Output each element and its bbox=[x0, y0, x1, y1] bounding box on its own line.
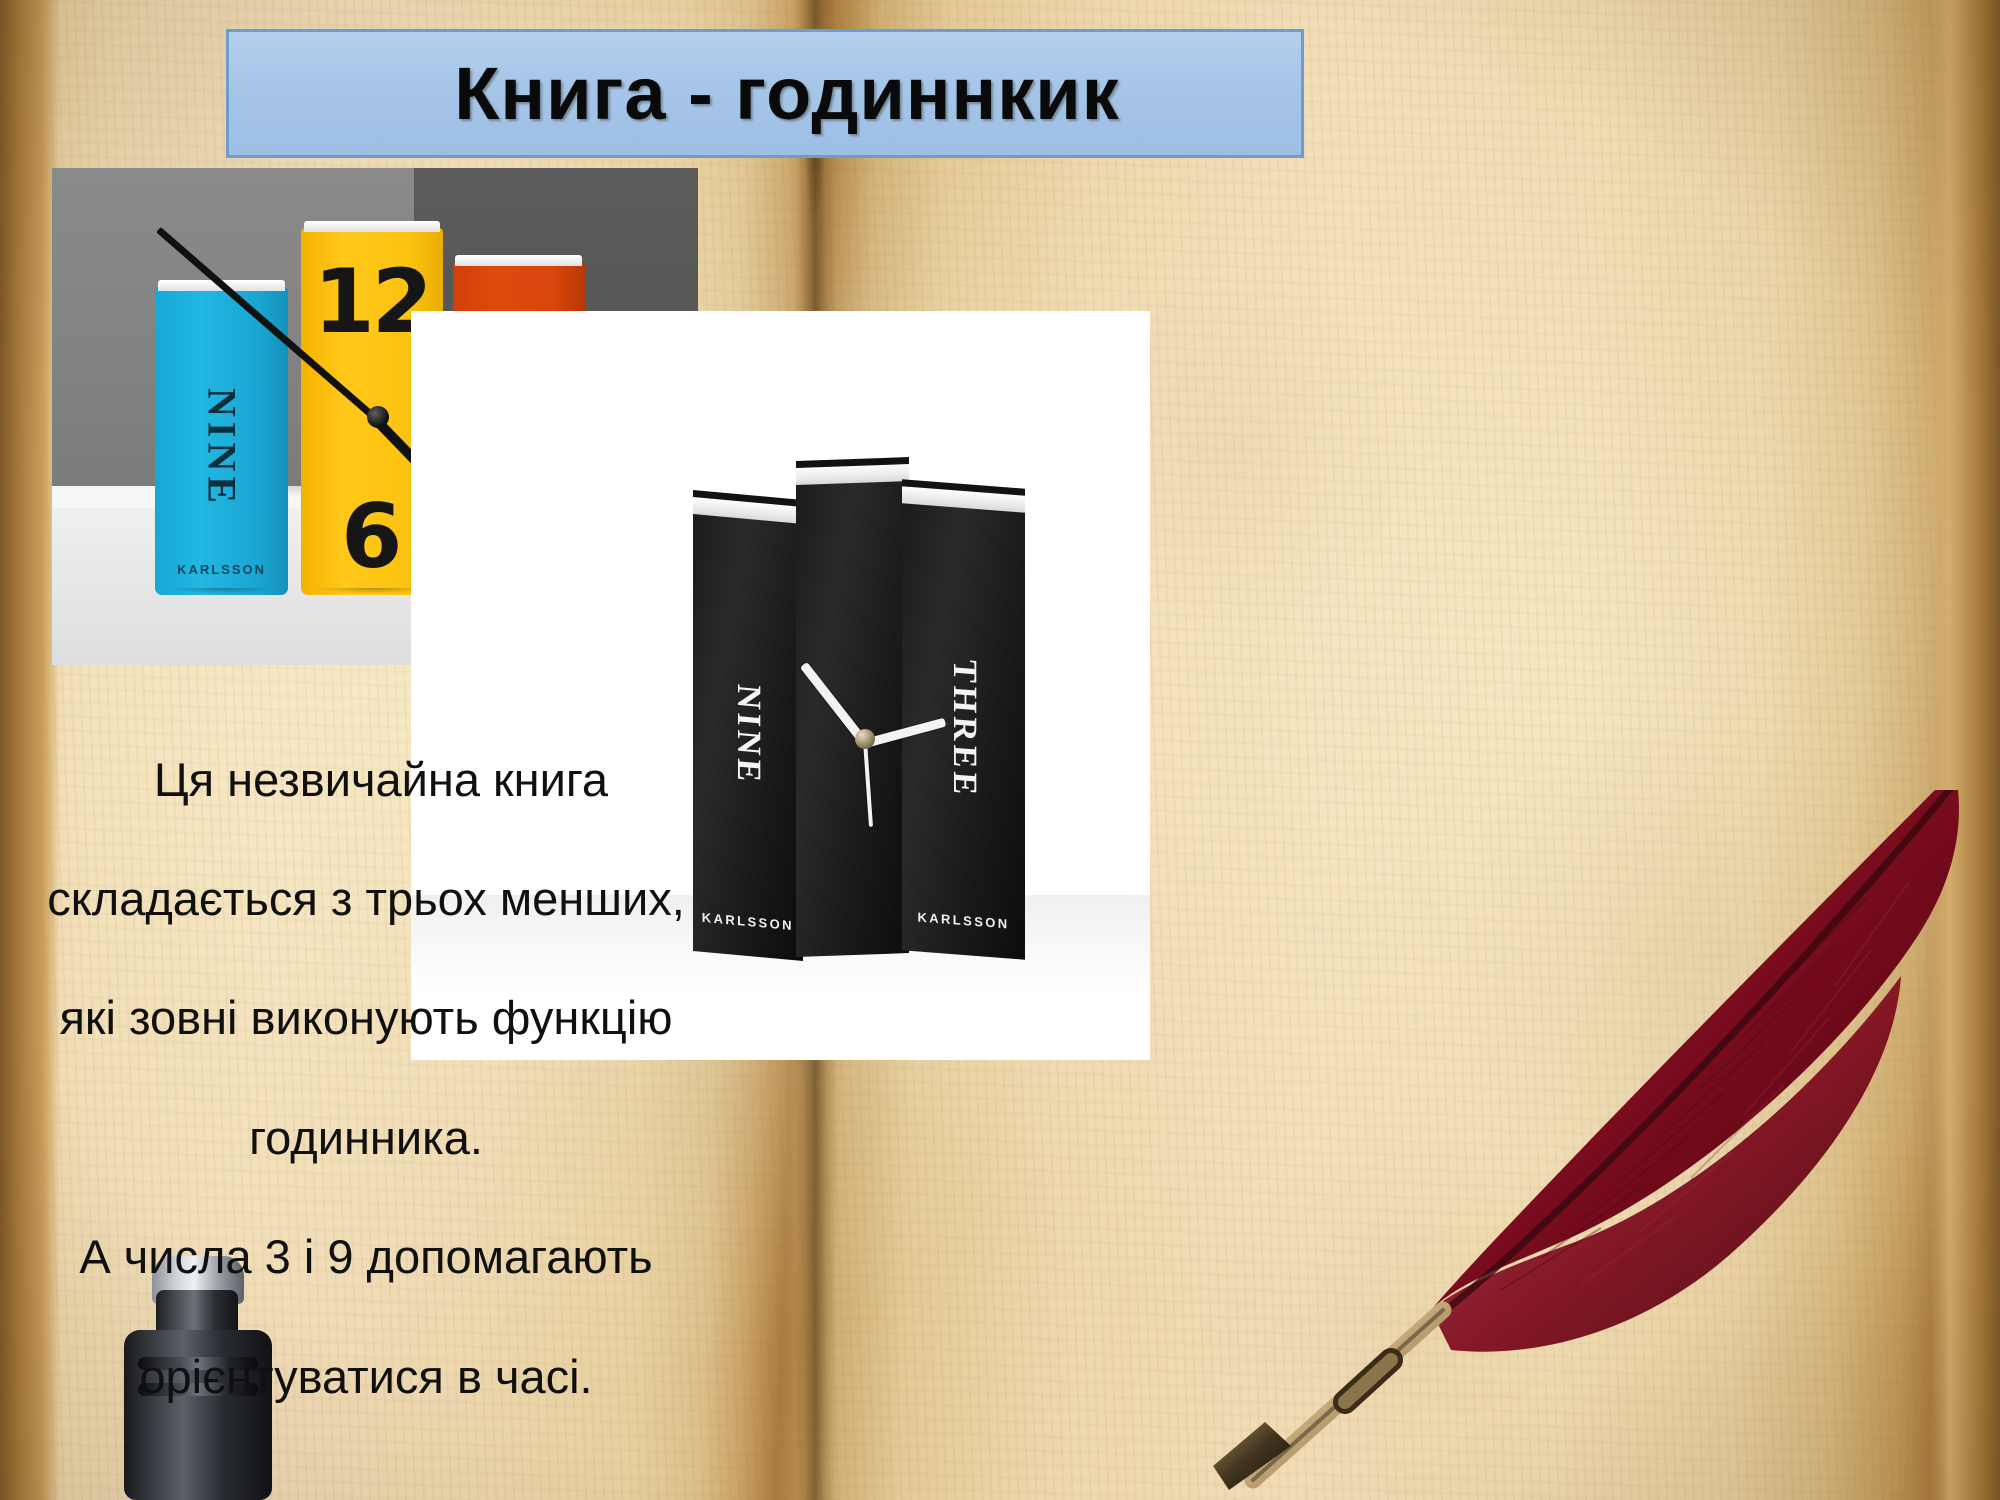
clock-pivot-icon bbox=[367, 406, 389, 428]
body-line-5: А числа 3 і 9 допомагають bbox=[36, 1227, 696, 1287]
book-spine-label: NINE bbox=[728, 682, 766, 786]
book-spine-label: THREE bbox=[945, 658, 983, 800]
book-brand-label: KARLSSON bbox=[701, 909, 793, 932]
colour-book-blue: NINE KARLSSON bbox=[155, 287, 287, 595]
book-pages-edge bbox=[455, 255, 582, 266]
slide-canvas: Книга - годиннкик THREE KARLSSON 12 6 NI… bbox=[0, 0, 2000, 1500]
clock-number-6: 6 bbox=[341, 485, 402, 588]
book-pages-edge bbox=[304, 221, 440, 232]
quill-feather-icon bbox=[1195, 790, 1995, 1490]
book-shadow bbox=[147, 588, 295, 604]
body-line-4: годинника. bbox=[36, 1108, 696, 1168]
body-line-6: орієнтуватися в часі. bbox=[36, 1347, 696, 1407]
book-pages-edge bbox=[902, 480, 1025, 513]
book-brand-label: KARLSSON bbox=[177, 562, 266, 577]
body-paragraph: Ця незвичайна книга складається з трьох … bbox=[36, 690, 696, 1466]
slide-title-box: Книга - годиннкик bbox=[226, 29, 1304, 158]
black-book-group: NINE KARLSSON THREE KARLSSON bbox=[699, 453, 1032, 955]
black-book-left: NINE KARLSSON bbox=[693, 509, 803, 961]
black-book-mid bbox=[796, 476, 909, 957]
book-pages-edge bbox=[796, 457, 909, 485]
body-line-2: складається з трьох менших, bbox=[36, 869, 696, 929]
body-line-1: Ця незвичайна книга bbox=[36, 750, 696, 810]
book-spine-label: NINE bbox=[198, 388, 245, 508]
page-title: Книга - годиннкик bbox=[454, 51, 1120, 136]
body-line-3: які зовні виконують функцію bbox=[36, 988, 696, 1048]
book-brand-label: KARLSSON bbox=[917, 909, 1009, 931]
book-pages-edge bbox=[693, 490, 803, 524]
